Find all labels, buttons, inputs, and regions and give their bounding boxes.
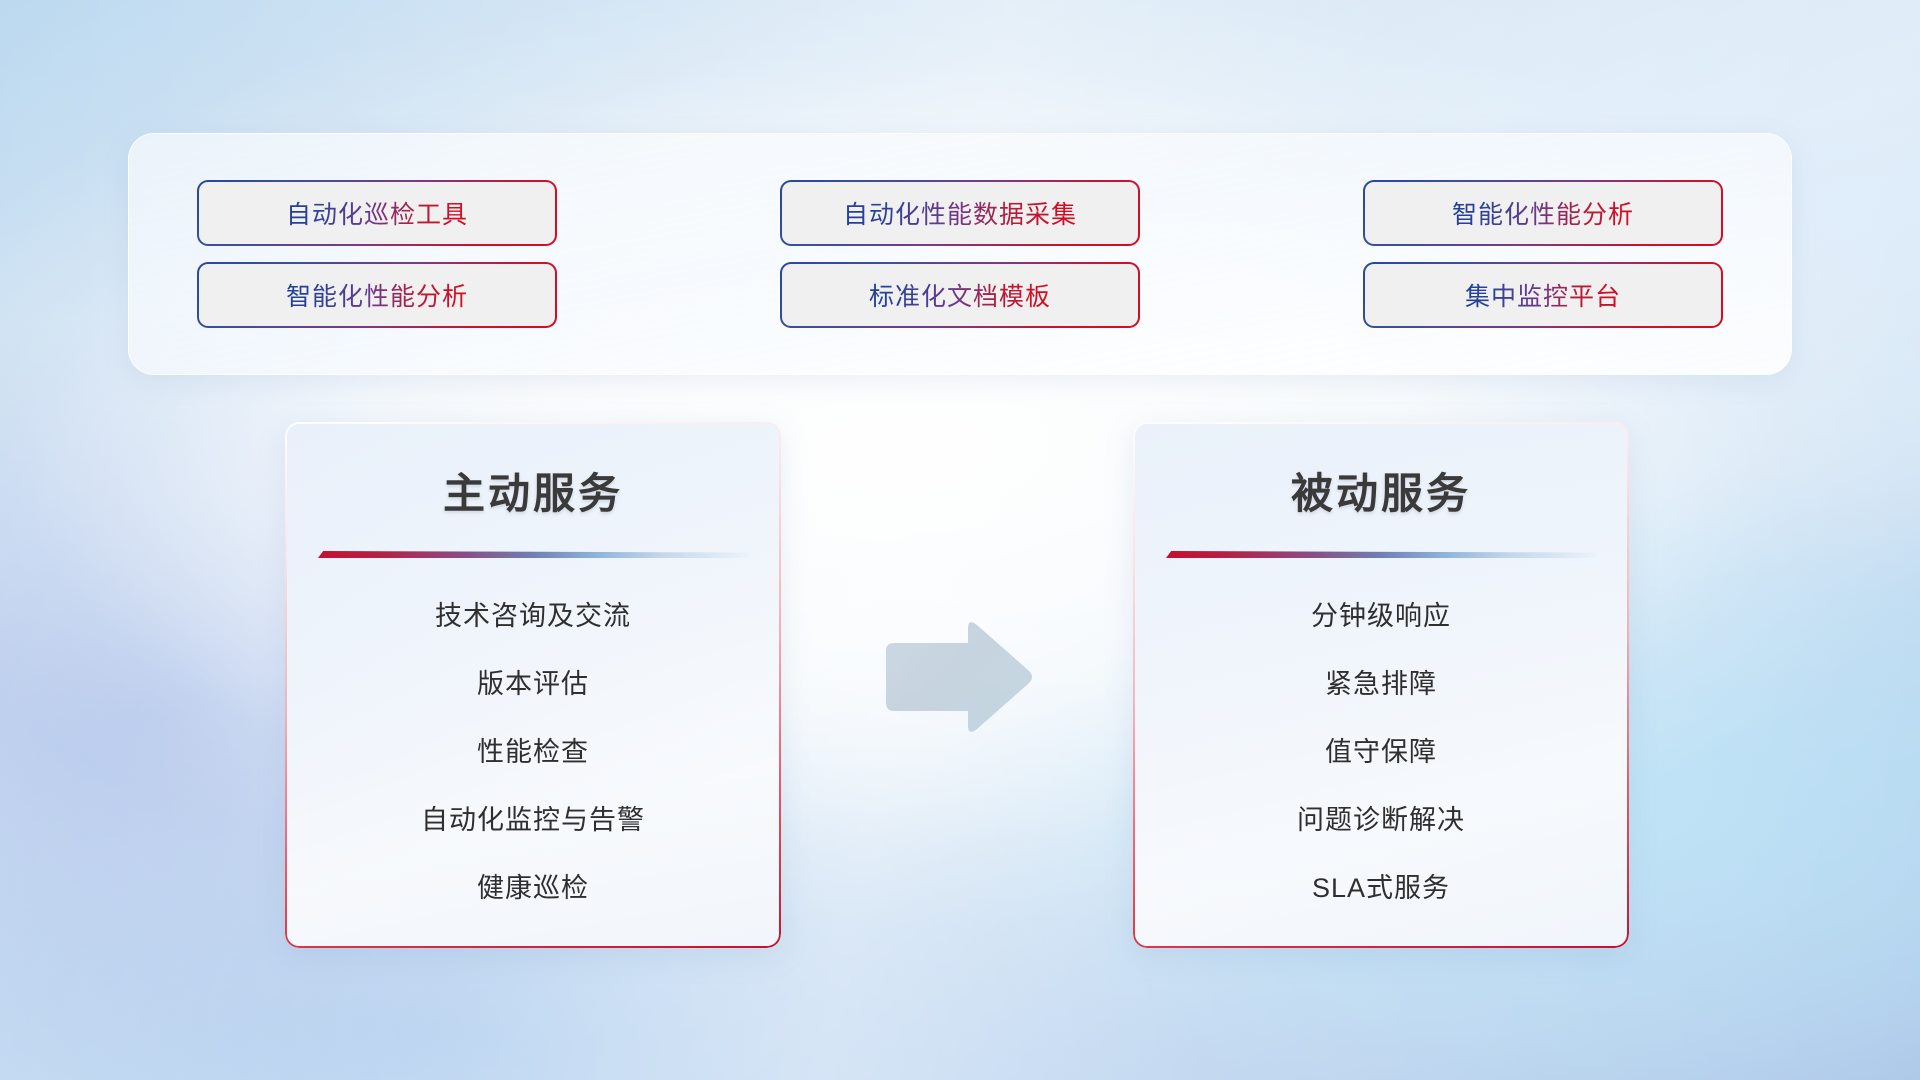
proactive-service-card: 主动服务 技术咨询及交流 版本评估 性能检查 自动化监控与告警 健康巡检 (285, 422, 781, 948)
list-item: 版本评估 (477, 662, 589, 701)
capability-tag-row: 自动化巡检工具 自动化性能数据采集 智能化性能分析 (199, 182, 1721, 244)
list-item: 性能检查 (477, 730, 589, 769)
list-item: SLA式服务 (1312, 866, 1450, 905)
card-title: 主动服务 (285, 460, 781, 521)
capability-tag[interactable]: 自动化巡检工具 (199, 182, 555, 244)
list-item: 分钟级响应 (1311, 594, 1451, 633)
capability-tag[interactable]: 智能化性能分析 (1365, 182, 1721, 244)
capability-tag-row: 智能化性能分析 标准化文档模板 集中监控平台 (199, 264, 1721, 326)
list-item: 问题诊断解决 (1297, 798, 1465, 837)
capability-tag-label: 自动化性能数据采集 (843, 195, 1077, 231)
arrow-right-block-icon (876, 618, 1036, 736)
capability-tag[interactable]: 智能化性能分析 (199, 264, 555, 326)
capability-tag[interactable]: 标准化文档模板 (782, 264, 1138, 326)
capability-tag[interactable]: 集中监控平台 (1365, 264, 1721, 326)
list-item: 技术咨询及交流 (435, 594, 631, 633)
list-item: 紧急排障 (1325, 662, 1437, 701)
capability-tag-label: 集中监控平台 (1465, 277, 1621, 313)
card-title: 被动服务 (1133, 460, 1629, 521)
service-item-list: 分钟级响应 紧急排障 值守保障 问题诊断解决 SLA式服务 (1133, 594, 1629, 905)
list-item: 值守保障 (1325, 730, 1437, 769)
card-divider (1166, 551, 1596, 558)
card-divider (318, 551, 748, 558)
capability-tag-label: 智能化性能分析 (286, 277, 468, 313)
capability-panel: 自动化巡检工具 自动化性能数据采集 智能化性能分析 智能化性能分析 标准化文档模… (128, 133, 1792, 375)
list-item: 自动化监控与告警 (421, 798, 645, 837)
capability-tag-label: 自动化巡检工具 (286, 195, 468, 231)
capability-tag-label: 智能化性能分析 (1452, 195, 1634, 231)
reactive-service-card: 被动服务 分钟级响应 紧急排障 值守保障 问题诊断解决 SLA式服务 (1133, 422, 1629, 948)
service-item-list: 技术咨询及交流 版本评估 性能检查 自动化监控与告警 健康巡检 (285, 594, 781, 905)
capability-tag[interactable]: 自动化性能数据采集 (782, 182, 1138, 244)
capability-tag-label: 标准化文档模板 (869, 277, 1051, 313)
list-item: 健康巡检 (477, 866, 589, 905)
